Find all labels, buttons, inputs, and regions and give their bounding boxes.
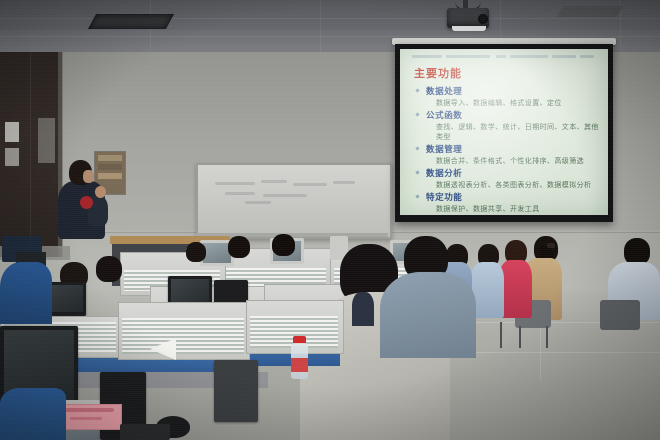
- attendee-blue-jacket: [0, 262, 52, 324]
- handwriting-mark: [70, 417, 102, 420]
- partition-glass: [122, 318, 244, 354]
- attendee-head: [186, 242, 206, 262]
- screen-glare: [400, 49, 608, 215]
- wall-paper-sheet: [5, 122, 19, 142]
- ceiling-vent-icon: [557, 6, 623, 17]
- monitor-screen: [203, 243, 231, 263]
- head: [624, 238, 650, 265]
- projector-base: [452, 26, 486, 31]
- wall-paper-sheet: [5, 148, 19, 166]
- ceiling-seam: [0, 36, 660, 37]
- keyboard: [120, 424, 170, 440]
- chair-leg: [546, 326, 548, 348]
- attendee-head: [228, 236, 250, 258]
- handwriting-mark: [64, 408, 114, 412]
- attendee-torso: [380, 272, 476, 358]
- attendee-blue-jacket: [0, 388, 66, 440]
- projector-lens-icon: [478, 14, 488, 24]
- ceiling-vent-icon: [88, 14, 174, 29]
- chair-leg: [500, 322, 502, 348]
- monitor: [214, 360, 258, 422]
- collar: [352, 292, 374, 326]
- glasses-icon: [547, 243, 555, 248]
- chair-leg: [519, 326, 521, 348]
- bottle-label: [291, 358, 308, 372]
- classroom-photo: 主要功能 数据处理 数据导入、数据编辑、格式设置、定位 公式函数 查找、逻辑、数…: [0, 0, 660, 440]
- wall-poster: [38, 118, 55, 163]
- projection-screen: 主要功能 数据处理 数据导入、数据编辑、格式设置、定位 公式函数 查找、逻辑、数…: [400, 49, 608, 215]
- cabinet-seam: [30, 52, 31, 257]
- floor-tile-line: [460, 352, 660, 353]
- presenter-shirt-logo: [80, 196, 93, 209]
- attendee-head: [272, 234, 295, 256]
- whiteboard-erased-writing: [215, 180, 365, 206]
- chair: [600, 300, 640, 330]
- attendee-head: [96, 256, 122, 282]
- presenter-face: [83, 170, 94, 183]
- ceiling-grid-line: [320, 0, 321, 52]
- presenter-hand: [95, 186, 106, 198]
